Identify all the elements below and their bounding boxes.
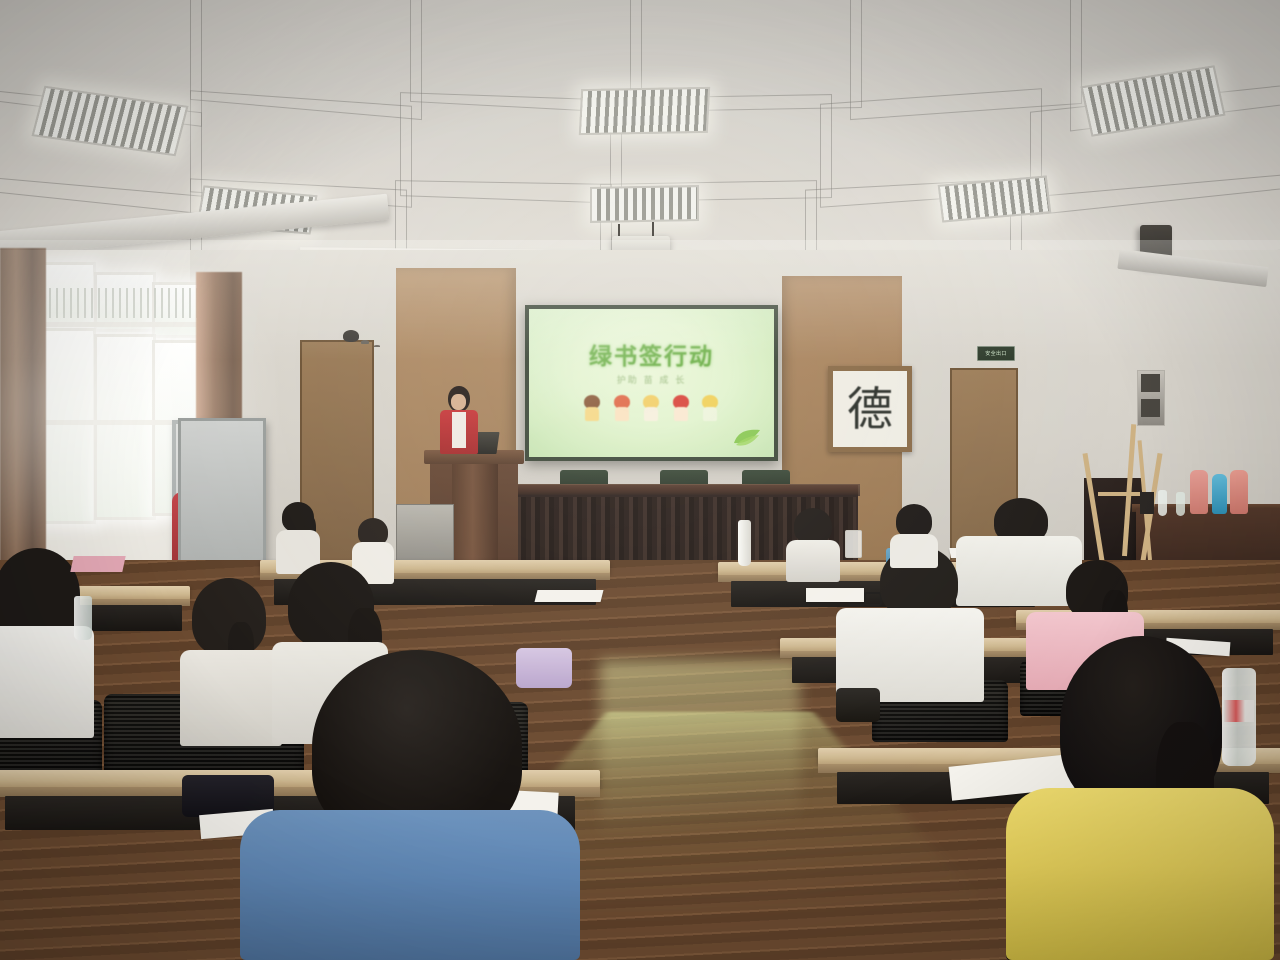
water-bottle	[1158, 490, 1167, 516]
student-ponytail-mid	[786, 508, 840, 582]
bag	[836, 688, 880, 722]
ceiling-light	[579, 87, 710, 135]
exit-sign: 安全出口	[977, 346, 1015, 361]
window-pane	[94, 334, 156, 520]
wall-speaker-lower-icon	[1137, 370, 1165, 426]
calligraphy-frame: 德	[828, 366, 912, 452]
projection-screen: 绿书签行动 护助 苗 成 长	[525, 305, 778, 461]
flask-pink-large	[1190, 470, 1208, 514]
paper-sheet	[535, 590, 604, 602]
student-blue-shirt-foreground	[240, 650, 582, 960]
backpack	[516, 648, 572, 688]
flask-blue	[1212, 474, 1227, 514]
flask-salmon	[1230, 470, 1248, 514]
calligraphy-character: 德	[847, 386, 893, 432]
thermos	[738, 520, 751, 566]
window-mullion	[26, 322, 202, 327]
cloth-pink	[70, 556, 125, 572]
student-yellow-shirt-right	[1006, 636, 1276, 960]
student-white-shirt-left	[0, 548, 96, 738]
security-camera-icon	[343, 330, 359, 342]
classroom-photo: 安全出口 德 绿书签行动 护助 苗 成 长	[0, 0, 1280, 960]
student-dark-hair-back	[890, 504, 938, 568]
printer-box	[1140, 492, 1154, 514]
curtain-left	[0, 248, 46, 578]
screen-glare	[529, 309, 774, 457]
ceiling-light	[590, 185, 699, 223]
equipment-cabinet-left	[396, 504, 454, 568]
student-white-shirt-right	[836, 546, 986, 702]
flipchart-stand	[178, 418, 266, 572]
presenter-at-podium	[436, 386, 482, 456]
water-bottle	[1176, 492, 1185, 516]
window-railing	[28, 288, 200, 318]
water-bottle	[74, 596, 92, 640]
